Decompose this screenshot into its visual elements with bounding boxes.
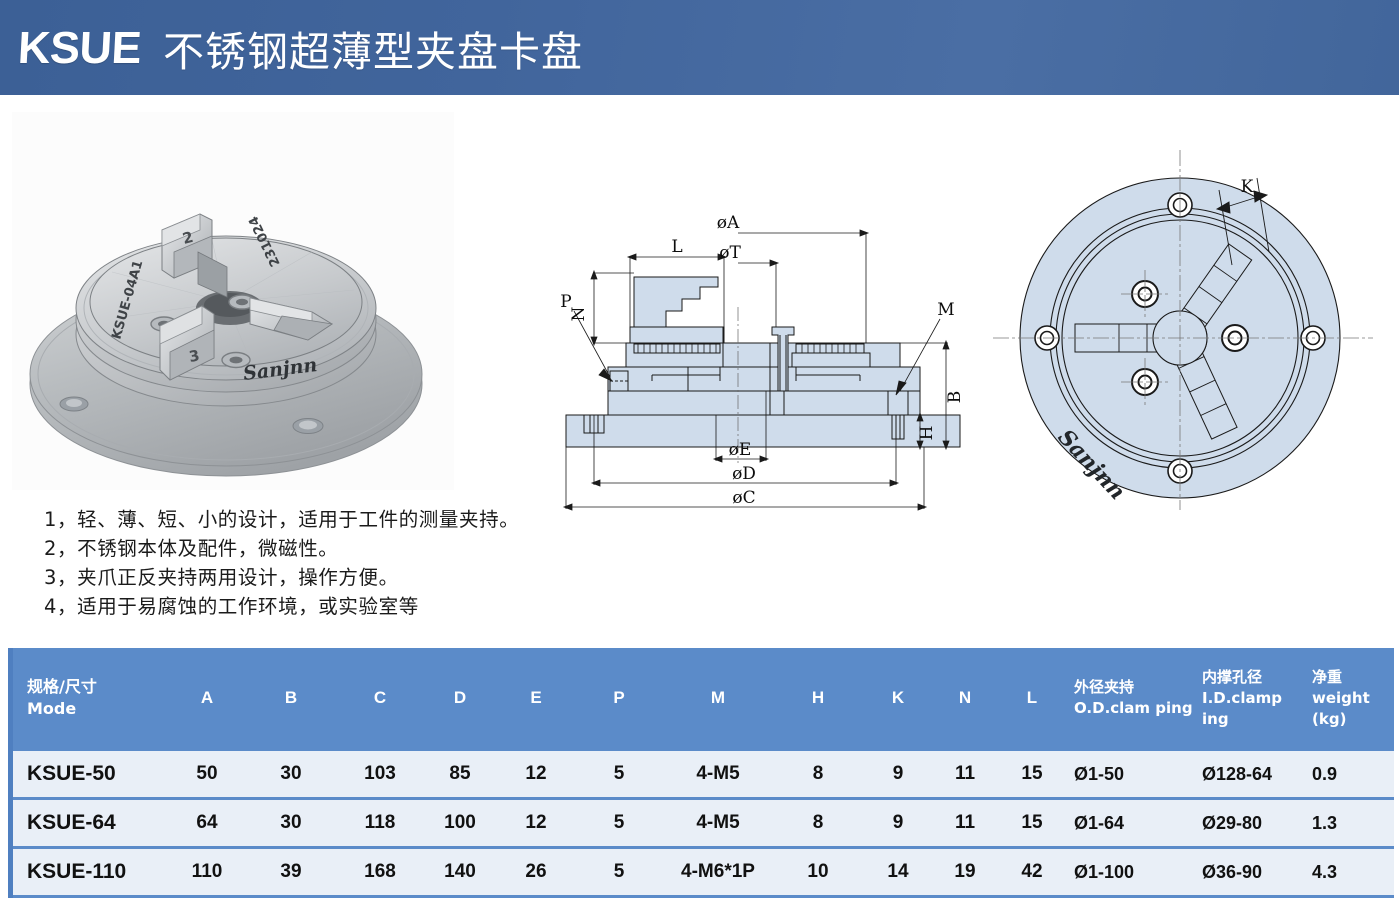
cell-b: 30	[246, 750, 336, 799]
column-header-id-clamping: 内撑孔径 I.D.clamp ing	[1196, 648, 1306, 750]
page-header-banner: KSUE 不锈钢超薄型夹盘卡盘	[0, 0, 1399, 95]
column-header-od-cn: 外径夹持	[1074, 677, 1196, 698]
dim-label-p: P	[560, 292, 571, 312]
cell-a: 64	[168, 799, 246, 848]
column-header-k: K	[862, 648, 934, 750]
dim-label-k: K	[1241, 177, 1254, 197]
cell-od-clamping: Ø1-50	[1068, 750, 1196, 799]
cell-n: 11	[934, 799, 996, 848]
cell-model: KSUE-50	[13, 750, 168, 799]
table-header-row: 规格/尺寸 Mode A B C D E P M H K N L 外径夹持 O.…	[13, 648, 1394, 750]
dim-label-oa: øA	[717, 215, 740, 233]
cell-e: 12	[496, 799, 576, 848]
cell-k: 9	[862, 799, 934, 848]
dim-label-od: øD	[732, 464, 756, 484]
cell-d: 140	[424, 848, 496, 897]
dim-label-m: M	[937, 300, 954, 320]
cell-id-clamping: Ø36-90	[1196, 848, 1306, 897]
cell-a: 110	[168, 848, 246, 897]
feature-item: 3，夹爪正反夹持两用设计，操作方便。	[44, 563, 664, 592]
cell-a: 50	[168, 750, 246, 799]
cross-section-drawing: øA øT L N P M B H øE øD øC	[548, 215, 978, 515]
cell-od-clamping: Ø1-64	[1068, 799, 1196, 848]
cell-b: 30	[246, 799, 336, 848]
cell-e: 12	[496, 750, 576, 799]
dim-label-n: N	[569, 306, 589, 321]
cell-h: 8	[774, 750, 862, 799]
feature-item: 1，轻、薄、短、小的设计，适用于工件的测量夹持。	[44, 505, 664, 534]
column-header-model-cn: 规格/尺寸	[27, 676, 168, 698]
dim-label-oc: øC	[732, 488, 755, 508]
column-header-id-en: I.D.clamp ing	[1202, 688, 1306, 730]
cell-k: 14	[862, 848, 934, 897]
cell-weight: 1.3	[1306, 799, 1394, 848]
column-header-d: D	[424, 648, 496, 750]
column-header-h: H	[774, 648, 862, 750]
dim-label-l: L	[671, 237, 682, 257]
cell-h: 8	[774, 799, 862, 848]
column-header-weight-en: weight (kg)	[1312, 688, 1394, 730]
cell-d: 100	[424, 799, 496, 848]
column-header-model: 规格/尺寸 Mode	[13, 648, 168, 750]
feature-item: 4，适用于易腐蚀的工作环境，或实验室等	[44, 592, 664, 621]
cell-l: 15	[996, 799, 1068, 848]
cell-n: 11	[934, 750, 996, 799]
cell-p: 5	[576, 750, 662, 799]
feature-item: 2，不锈钢本体及配件，微磁性。	[44, 534, 664, 563]
cell-model: KSUE-64	[13, 799, 168, 848]
cell-p: 5	[576, 848, 662, 897]
column-header-weight-cn: 净重	[1312, 667, 1394, 688]
column-header-m: M	[662, 648, 774, 750]
column-header-p: P	[576, 648, 662, 750]
cell-n: 19	[934, 848, 996, 897]
table-row: KSUE-50 50 30 103 85 12 5 4-M5 8 9 11 15…	[13, 750, 1394, 799]
cell-id-clamping: Ø128-64	[1196, 750, 1306, 799]
column-header-weight: 净重 weight (kg)	[1306, 648, 1394, 750]
column-header-l: L	[996, 648, 1068, 750]
cell-l: 42	[996, 848, 1068, 897]
feature-list: 1，轻、薄、短、小的设计，适用于工件的测量夹持。 2，不锈钢本体及配件，微磁性。…	[44, 505, 664, 621]
cell-l: 15	[996, 750, 1068, 799]
column-header-e: E	[496, 648, 576, 750]
column-header-n: N	[934, 648, 996, 750]
cell-c: 118	[336, 799, 424, 848]
cell-b: 39	[246, 848, 336, 897]
table-row: KSUE-110 110 39 168 140 26 5 4-M6*1P 10 …	[13, 848, 1394, 897]
cell-od-clamping: Ø1-100	[1068, 848, 1196, 897]
specification-table: 规格/尺寸 Mode A B C D E P M H K N L 外径夹持 O.…	[8, 648, 1391, 898]
cell-m: 4-M6*1P	[662, 848, 774, 897]
cell-c: 103	[336, 750, 424, 799]
table-row: KSUE-64 64 30 118 100 12 5 4-M5 8 9 11 1…	[13, 799, 1394, 848]
cell-weight: 0.9	[1306, 750, 1394, 799]
cell-model: KSUE-110	[13, 848, 168, 897]
cell-p: 5	[576, 799, 662, 848]
dim-label-ot: øT	[719, 243, 741, 263]
cell-c: 168	[336, 848, 424, 897]
cell-m: 4-M5	[662, 750, 774, 799]
dim-label-h: H	[917, 426, 937, 441]
cell-weight: 4.3	[1306, 848, 1394, 897]
cell-d: 85	[424, 750, 496, 799]
column-header-id-cn: 内撑孔径	[1202, 667, 1306, 688]
cell-id-clamping: Ø29-80	[1196, 799, 1306, 848]
cell-h: 10	[774, 848, 862, 897]
dim-label-oe: øE	[729, 440, 752, 460]
cell-e: 26	[496, 848, 576, 897]
dim-label-b: B	[945, 391, 965, 404]
column-header-b: B	[246, 648, 336, 750]
column-header-a: A	[168, 648, 246, 750]
column-header-c: C	[336, 648, 424, 750]
top-view-drawing: K Sanjnn	[985, 120, 1395, 510]
product-subtitle: 不锈钢超薄型夹盘卡盘	[163, 18, 583, 78]
column-header-od-en: O.D.clam ping	[1074, 698, 1196, 719]
column-header-od-clamping: 外径夹持 O.D.clam ping	[1068, 648, 1196, 750]
column-header-model-en: Mode	[27, 698, 168, 720]
cell-k: 9	[862, 750, 934, 799]
cell-m: 4-M5	[662, 799, 774, 848]
product-photo: 2 3 KSUE-04A1 231024 Sanjnn	[12, 112, 454, 490]
brand-title: KSUE	[17, 22, 143, 74]
